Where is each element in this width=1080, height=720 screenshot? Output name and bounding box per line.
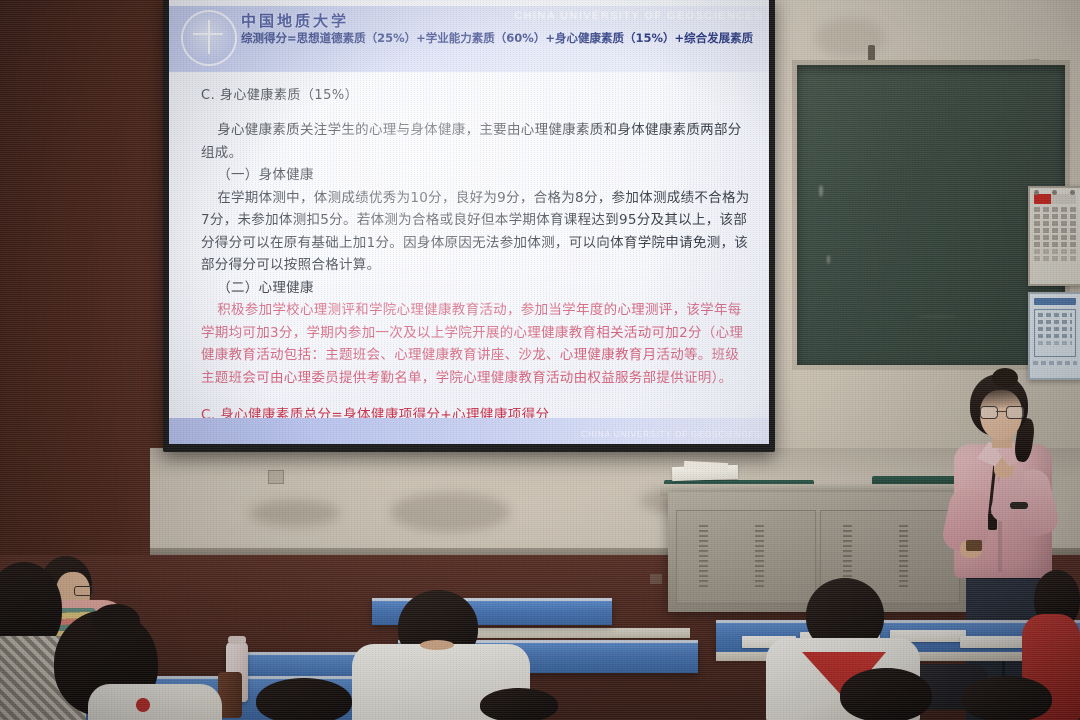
slide-paragraph-2: 在学期体测中，体测成绩优秀为10分，良好为9分，合格为8分，参加体测成绩不合格为… (201, 187, 751, 277)
sign-header-band (1034, 194, 1076, 204)
presenter-hair-bun (992, 368, 1018, 388)
student-neck (420, 640, 454, 650)
slide-paragraph-1: （一）身体健康 (201, 164, 751, 187)
slide-footer-band: CHINA UNIVERSITY OF GEOSCIENCES (169, 418, 769, 444)
student-head (840, 668, 932, 720)
slide-paragraph-4: 积极参加学校心理测评和学院心理健康教育活动，参加当学年度的心理测评，该学年每学期… (201, 299, 751, 389)
presentation-clicker (966, 540, 982, 551)
student-head (480, 688, 558, 720)
wall-smudge (250, 500, 340, 526)
slide-paragraph-0: 身心健康素质关注学生的心理与身体健康，主要由心理健康素质和身体健康素质两部分组成… (201, 119, 751, 164)
university-logo-icon (181, 10, 237, 66)
slide-section-title: C. 身心健康素质（15%） (201, 84, 751, 103)
glasses-icon (74, 586, 94, 596)
slide-header-band: 中国地质大学 综测得分=思想道德素质（25%）+学业能力素质（60%）+身心健康… (169, 6, 769, 72)
student-hair-tie (92, 604, 140, 638)
sign-header-band (1034, 298, 1076, 305)
wall-smudge (390, 492, 510, 532)
slide-body: C. 身心健康素质（15%） 身心健康素质关注学生的心理与身体健康，主要由心理健… (201, 84, 751, 423)
slide-paragraph-3: （二）心理健康 (201, 277, 751, 300)
wall-sign-info (1028, 292, 1080, 380)
student-head (256, 678, 352, 720)
student-head (962, 676, 1052, 720)
wall-sign-notice (1028, 186, 1080, 286)
glasses-icon (980, 406, 1022, 417)
lecture-hall-photo: 中国地质大学 综测得分=思想道德素质（25%）+学业能力素质（60%）+身心健康… (0, 0, 1080, 720)
university-name: 中国地质大学 (241, 10, 349, 31)
slide-watermark: CHINA UNIVERSITY OF GEOSCIENCES (514, 10, 763, 22)
student-body (88, 684, 222, 720)
wristwatch-icon (1010, 502, 1028, 509)
wall-outlet (268, 470, 284, 484)
slide-footer-watermark: CHINA UNIVERSITY OF GEOSCIENCES (581, 430, 761, 439)
slide-formula: 综测得分=思想道德素质（25%）+学业能力素质（60%）+身心健康素质（15%）… (241, 30, 761, 46)
projection-screen-frame: 中国地质大学 综测得分=思想道德素质（25%）+学业能力素质（60%）+身心健康… (163, 0, 775, 452)
wall-outlet-lower (650, 574, 662, 584)
student-badge (136, 698, 150, 712)
projection-screen: 中国地质大学 综测得分=思想道德素质（25%）+学业能力素质（60%）+身心健康… (169, 0, 769, 444)
left-dark-wall (0, 0, 168, 560)
